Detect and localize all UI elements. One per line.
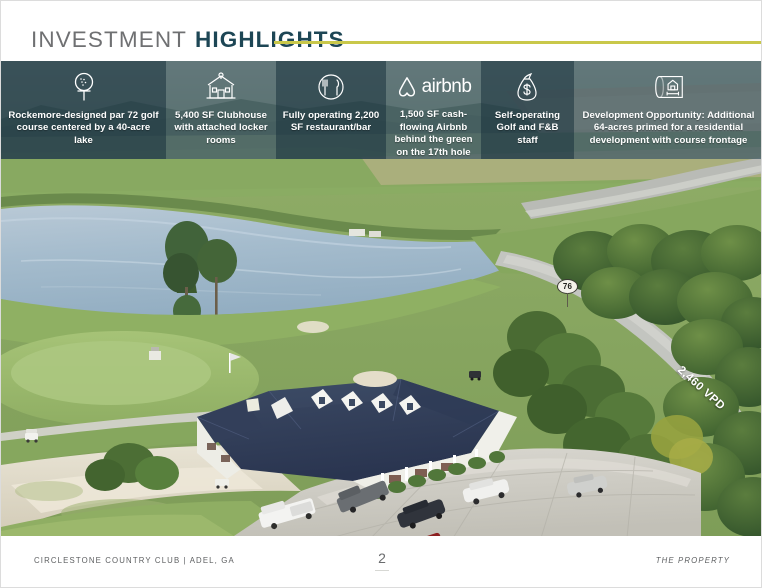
presentation-page: INVESTMENT HIGHLIGHTS [0,0,762,588]
page-title: INVESTMENT HIGHLIGHTS [31,27,345,53]
page-footer: CIRCLESTONE COUNTRY CLUB | ADEL, GA 2 TH… [1,536,762,587]
highlight-item-clubhouse[interactable]: 5,400 SF Clubhouse with attached locker … [166,61,276,159]
highlight-text: Fully operating 2,200 SF restaurant/bar [276,110,386,135]
highway-marker-76: 76 [557,279,578,294]
highway-marker-post [567,293,568,307]
highlight-item-development[interactable]: Development Opportunity: Additional 64-a… [574,61,762,159]
highlight-item-staff[interactable]: Self-operating Golf and F&B staff [481,61,574,159]
highlight-item-restaurant[interactable]: Fully operating 2,200 SF restaurant/bar [276,61,386,159]
highlight-text: Rockemore-designed par 72 golf course ce… [1,110,166,147]
page-header: INVESTMENT HIGHLIGHTS [1,1,762,61]
page-title-accent: HIGHLIGHTS [195,27,345,53]
blueprint-house-icon [651,69,687,105]
footer-page-number: 2 [1,550,762,566]
highlight-text: 1,500 SF cash-flowing Airbnb behind the … [386,109,481,159]
investment-highlights-bar: Rockemore-designed par 72 golf course ce… [1,61,762,159]
highlight-item-golf-course[interactable]: Rockemore-designed par 72 golf course ce… [1,61,166,159]
footer-page-rule [375,570,389,571]
footer-section-label: THE PROPERTY [656,556,730,565]
highlight-item-airbnb[interactable]: airbnb 1,500 SF cash-flowing Airbnb behi… [386,61,481,159]
title-rule-divider [274,41,762,44]
airbnb-logo-icon: airbnb [386,69,481,104]
highlight-text: 5,400 SF Clubhouse with attached locker … [166,110,276,147]
page-title-primary: INVESTMENT [31,27,187,53]
golf-ball-on-tee-icon [67,69,101,105]
money-bag-icon [511,69,545,105]
fork-knife-dining-icon [314,69,348,105]
clubhouse-building-icon [204,69,238,105]
highlight-text: Development Opportunity: Additional 64-a… [574,110,762,147]
highlight-text: Self-operating Golf and F&B staff [481,110,574,147]
airbnb-wordmark: airbnb [422,76,472,98]
